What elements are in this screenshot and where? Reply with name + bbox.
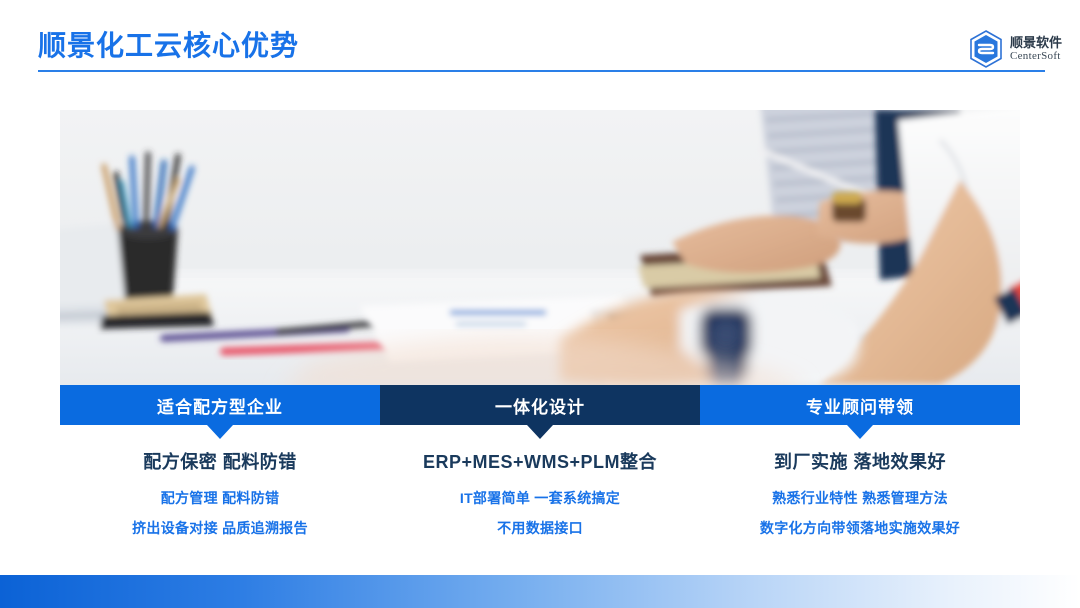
feature-column-2-heading: ERP+MES+WMS+PLM整合	[380, 448, 700, 474]
brand-logo: 顺景软件 CenterSoft	[969, 30, 1062, 68]
banner-pointer-1-icon	[207, 425, 233, 439]
feature-column-1-heading: 配方保密 配料防错	[60, 448, 380, 474]
feature-column-1-line-1: 配方管理 配料防错	[60, 488, 380, 508]
banner-pointer-3-icon	[847, 425, 873, 439]
feature-banner-1-label: 适合配方型企业	[157, 393, 283, 418]
feature-banner-row: 适合配方型企业 一体化设计 专业顾问带领	[60, 385, 1020, 425]
hexagon-s-logo-icon	[969, 30, 1003, 68]
feature-column-1: 配方保密 配料防错 配方管理 配料防错 挤出设备对接 品质追溯报告	[60, 448, 380, 548]
feature-column-2-line-2: 不用数据接口	[380, 518, 700, 538]
page-title: 顺景化工云核心优势	[38, 24, 299, 64]
feature-banner-2[interactable]: 一体化设计	[380, 385, 700, 425]
feature-column-2-line-1: IT部署简单 一套系统搞定	[380, 488, 700, 508]
feature-column-2: ERP+MES+WMS+PLM整合 IT部署简单 一套系统搞定 不用数据接口	[380, 448, 700, 548]
feature-banner-2-label: 一体化设计	[495, 393, 585, 418]
feature-column-3-line-1: 熟悉行业特性 熟悉管理方法	[700, 488, 1020, 508]
feature-column-3: 到厂实施 落地效果好 熟悉行业特性 熟悉管理方法 数字化方向带领落地实施效果好	[700, 448, 1020, 548]
feature-column-3-line-2: 数字化方向带领落地实施效果好	[700, 518, 1020, 538]
feature-banner-3-label: 专业顾问带领	[806, 393, 914, 418]
feature-column-1-line-2: 挤出设备对接 品质追溯报告	[60, 518, 380, 538]
logo-company-en: CenterSoft	[1010, 51, 1062, 62]
hero-photo	[60, 110, 1020, 385]
title-divider	[38, 70, 1045, 72]
feature-column-3-heading: 到厂实施 落地效果好	[700, 448, 1020, 474]
feature-columns: 配方保密 配料防错 配方管理 配料防错 挤出设备对接 品质追溯报告 ERP+ME…	[60, 448, 1020, 548]
banner-pointer-2-icon	[527, 425, 553, 439]
feature-banner-1[interactable]: 适合配方型企业	[60, 385, 380, 425]
feature-banner-3[interactable]: 专业顾问带领	[700, 385, 1020, 425]
footer-gradient-bar	[0, 575, 1080, 608]
office-desk-photo-illustration	[60, 110, 1020, 385]
logo-company-cn: 顺景软件	[1010, 36, 1062, 49]
